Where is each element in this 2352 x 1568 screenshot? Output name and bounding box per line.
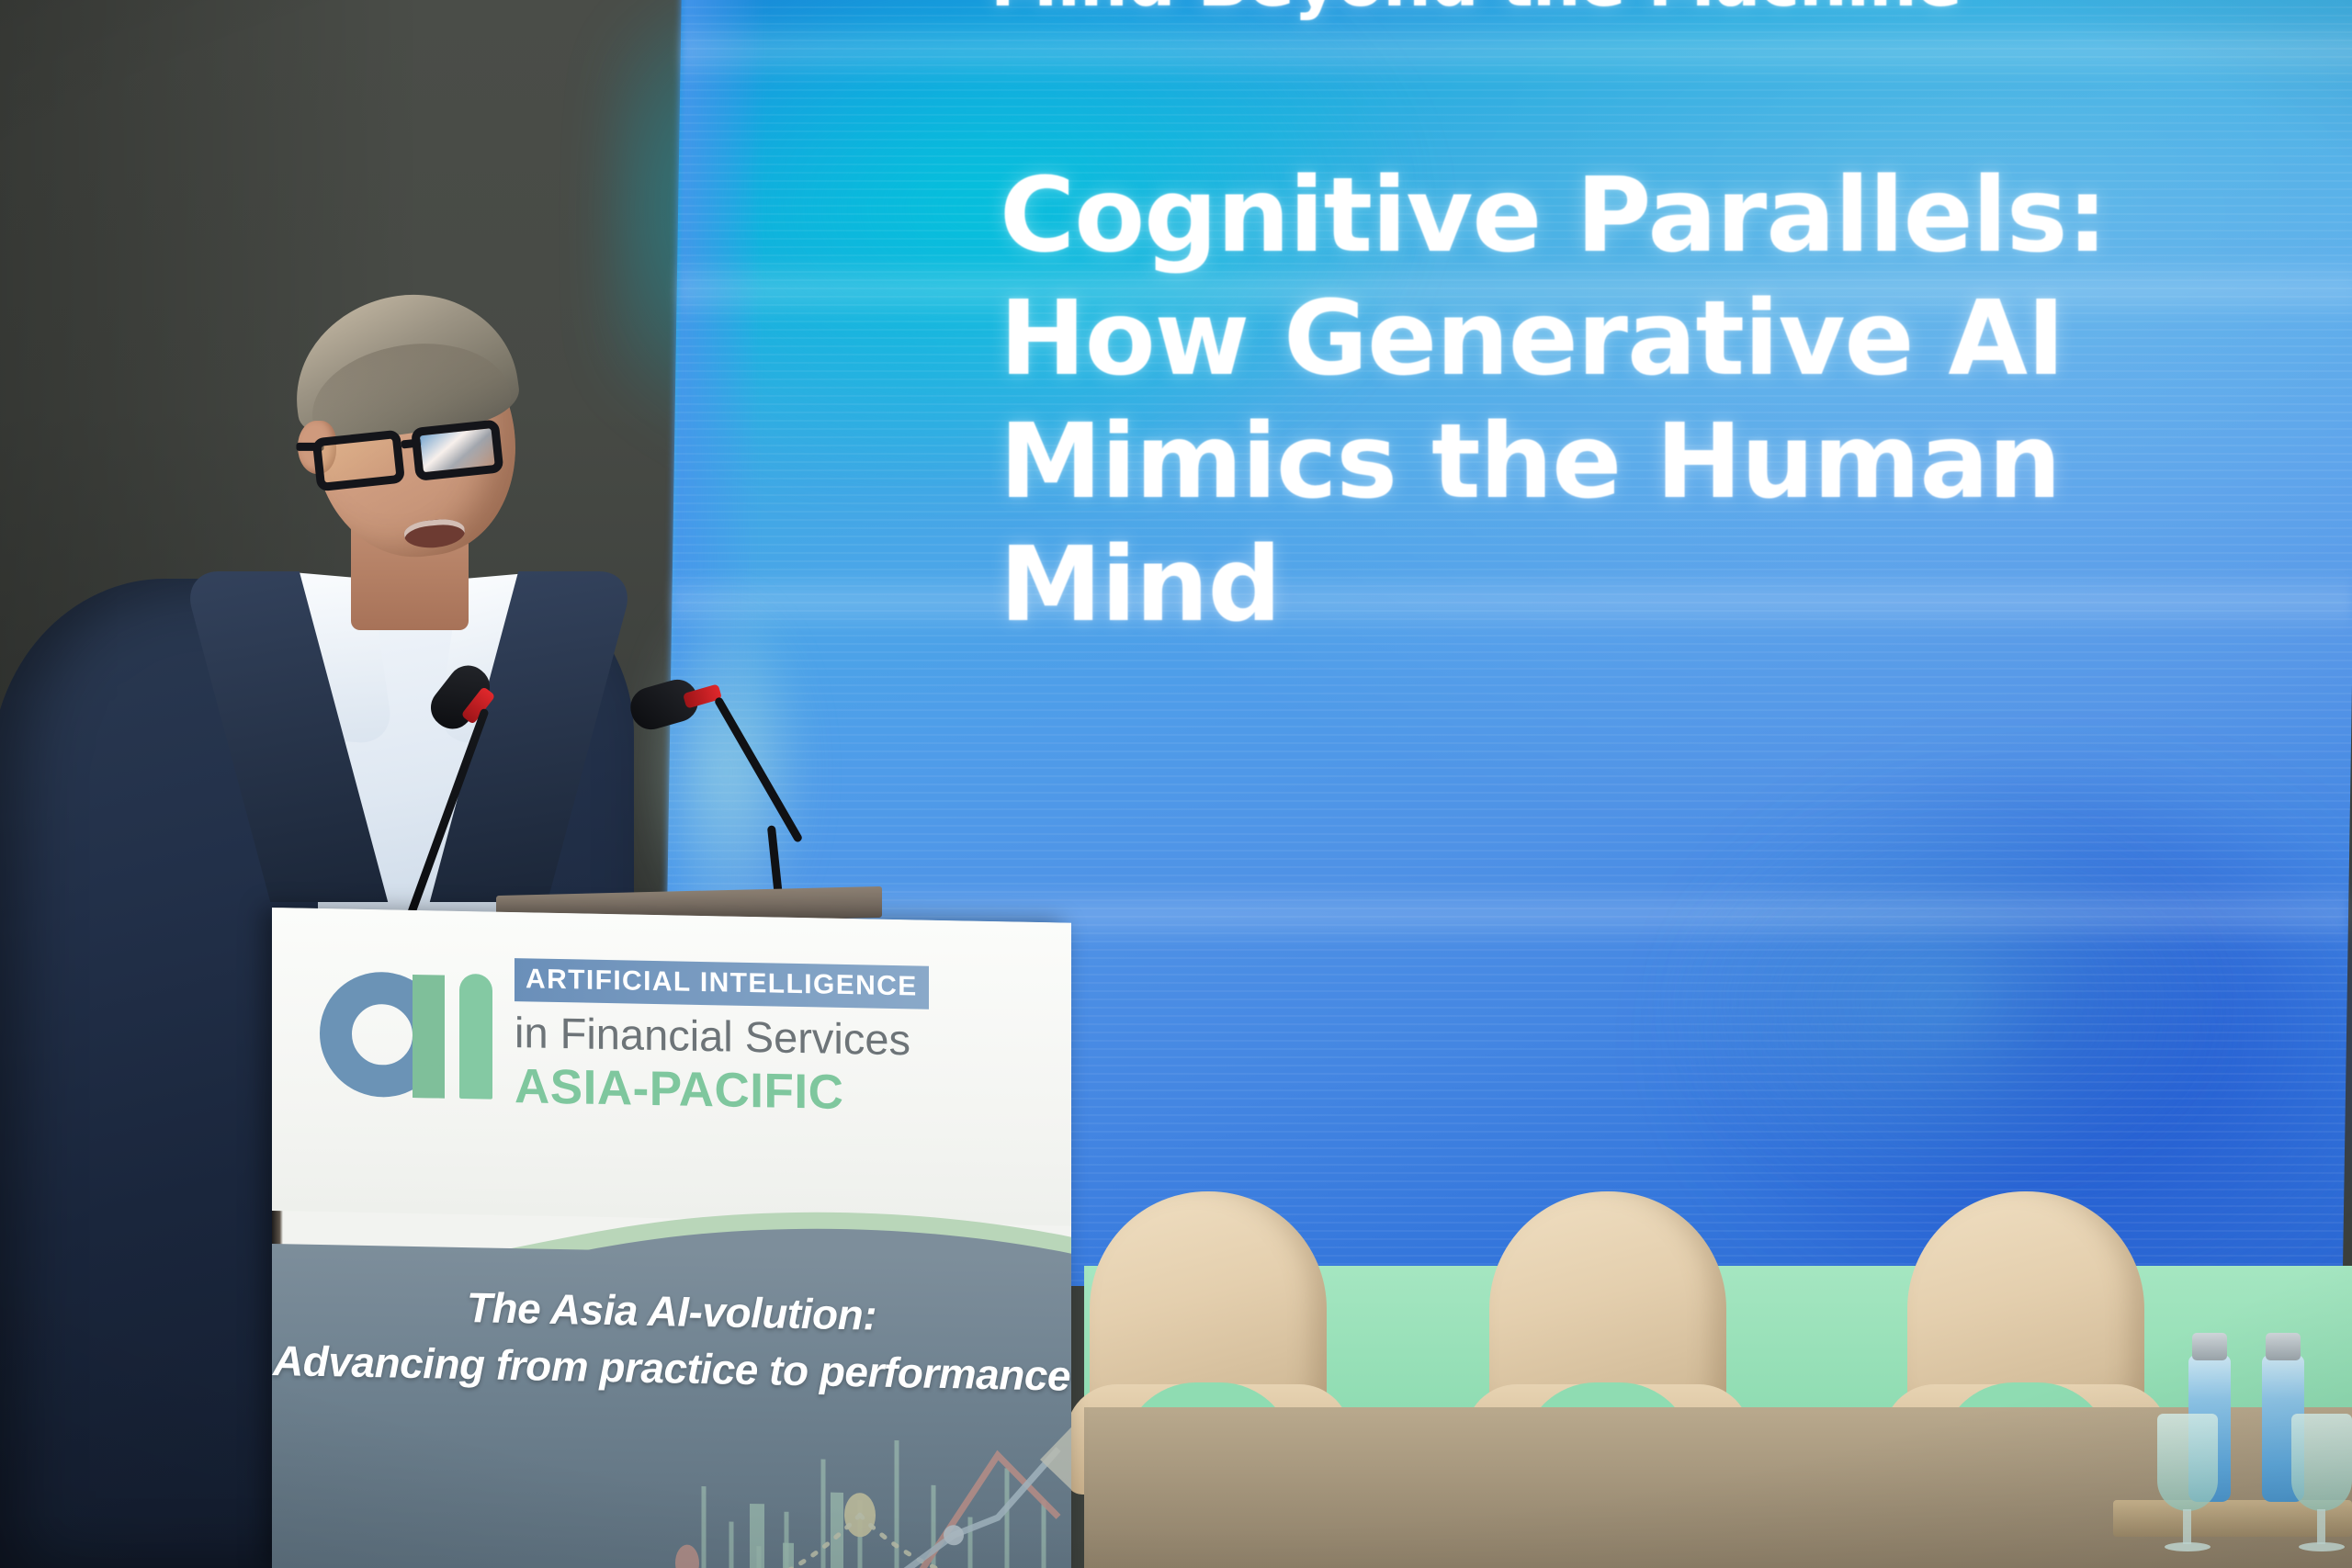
bottle-cap [2266,1333,2301,1360]
slide-text-block: Mind Beyond the Machine Cognitive Parall… [1000,0,2304,647]
glass-stem [2317,1509,2325,1544]
glasses-lens-right [411,419,504,481]
slide-title-line-4: Mind [1000,524,2304,647]
conference-photo: Mind Beyond the Machine Cognitive Parall… [0,0,2352,1568]
slide-kicker: Mind Beyond the Machine [990,0,2304,18]
logo-wordmark: ARTIFICIAL INTELLIGENCE in Financial Ser… [514,940,929,1122]
logo-letter-i [459,974,492,1100]
drinking-glass [2157,1414,2218,1511]
ai-monogram-icon [320,936,494,1100]
slide-title-line-1: Cognitive Parallels: [1000,154,2304,277]
logo-line-financial-services: in Financial Services [514,1009,929,1065]
glass-foot [2165,1542,2211,1551]
podium-tagline: The Asia AI-volution: Advancing from pra… [272,1275,1071,1404]
slide-title-line-2: How Generative AI [1000,277,2304,400]
logo-letter-a-foot [413,1065,445,1099]
podium-sign: ARTIFICIAL INTELLIGENCE in Financial Ser… [272,908,1071,1568]
conference-logo: ARTIFICIAL INTELLIGENCE in Financial Ser… [320,936,929,1122]
slide-title: Cognitive Parallels: How Generative AI M… [1000,154,2304,647]
glass-stem [2183,1509,2191,1544]
financial-chart-graphic-icon [272,1393,1071,1568]
logo-line-asia-pacific: ASIA-PACIFIC [514,1060,929,1122]
logo-badge-artificial-intelligence: ARTIFICIAL INTELLIGENCE [514,958,929,1010]
bottle-cap [2192,1333,2227,1360]
glasses-lens-left [312,430,406,492]
glass-foot [2299,1542,2345,1551]
slide-title-line-3: Mimics the Human [1000,400,2304,524]
drinking-glass [2291,1414,2352,1511]
